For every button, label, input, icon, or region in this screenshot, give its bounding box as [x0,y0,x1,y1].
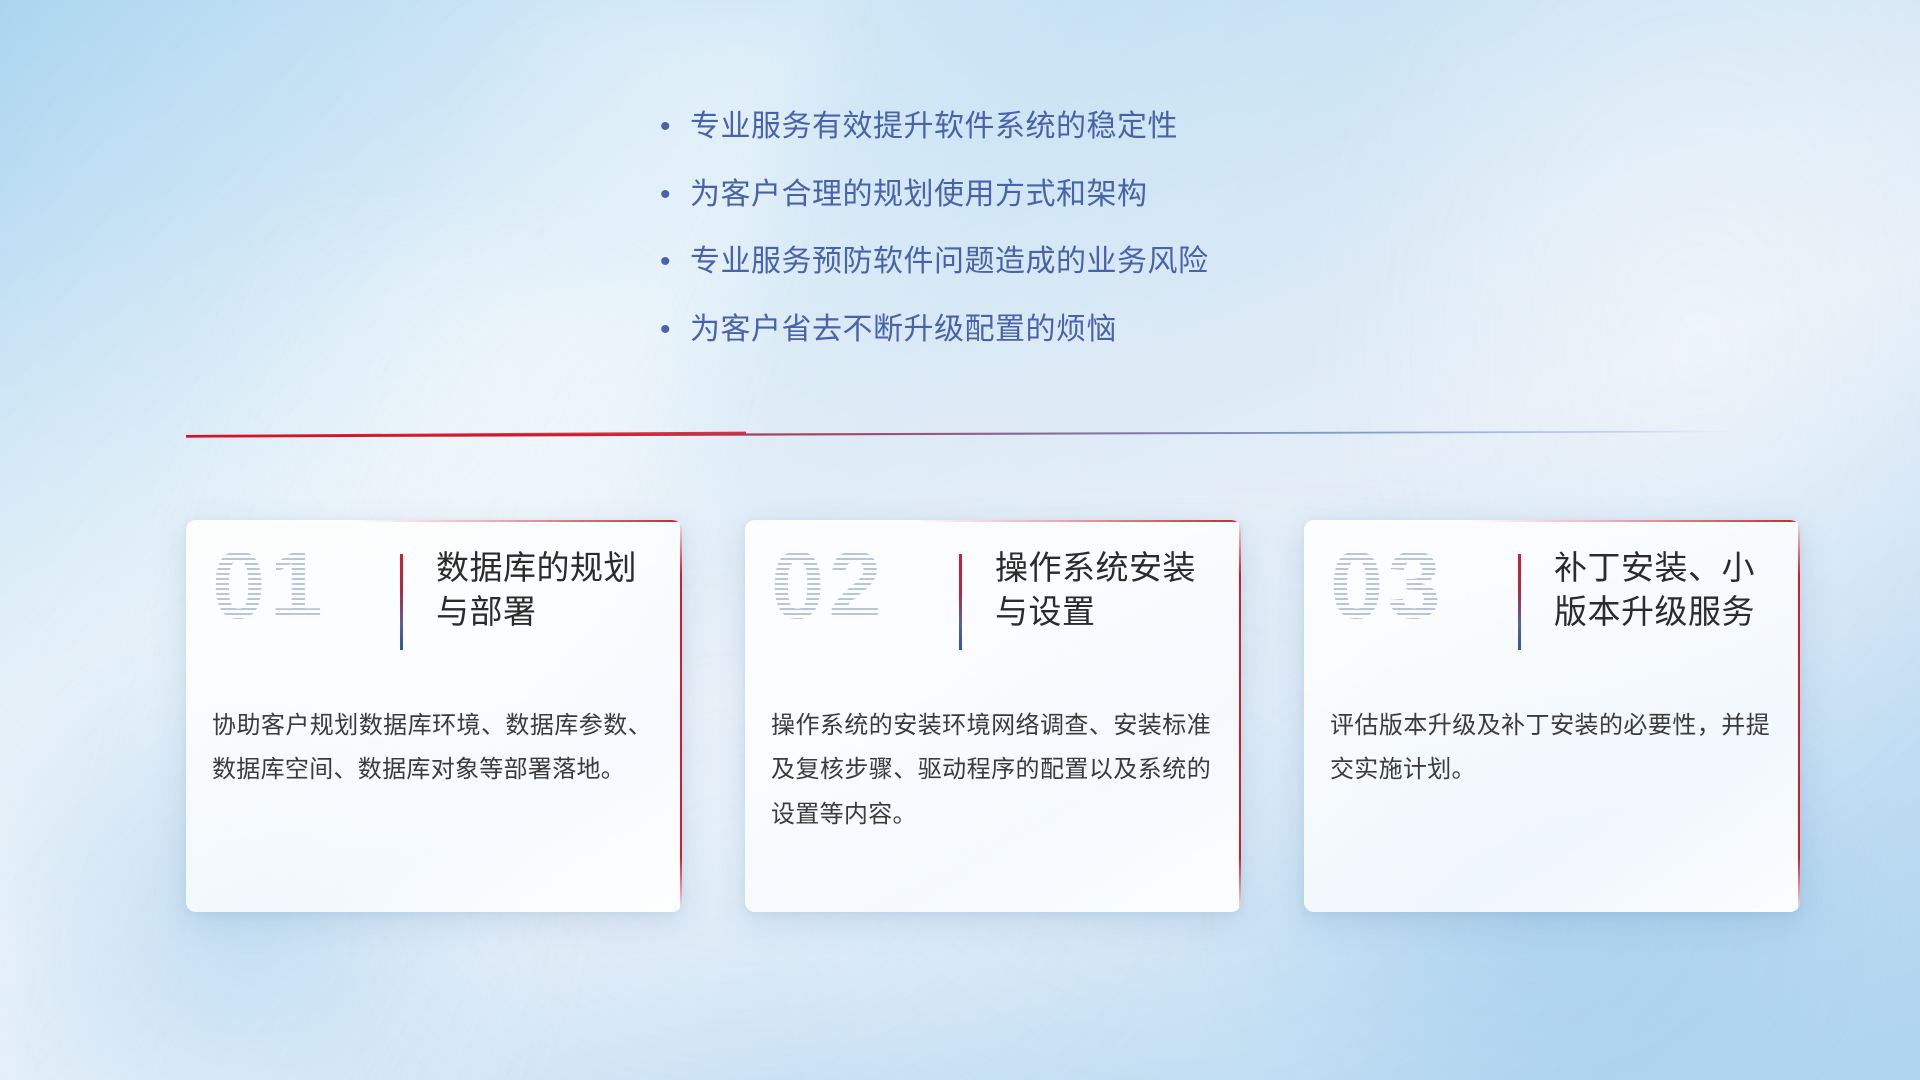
card-accent-bar [959,554,962,650]
service-card-01[interactable]: 01 数据库的规划与部署 协助客户规划数据库环境、数据库参数、数据库空间、数据库… [186,520,682,912]
card-title: 数据库的规划与部署 [436,546,660,634]
card-title: 操作系统安装与设置 [995,546,1219,634]
service-card-02[interactable]: 02 操作系统安装与设置 操作系统的安装环境网络调查、安装标准及复核步骤、驱动程… [745,520,1241,912]
bullet-dot-icon: • [660,112,690,142]
cards-row: 01 数据库的规划与部署 协助客户规划数据库环境、数据库参数、数据库空间、数据库… [186,520,1800,912]
card-accent-bar [1518,554,1521,650]
card-number-watermark: 01 [212,538,327,634]
bullet-item: • 专业服务预防软件问题造成的业务风险 [660,243,1480,281]
bullet-dot-icon: • [660,315,690,345]
bullet-item: • 专业服务有效提升软件系统的稳定性 [660,108,1480,146]
bullet-item: • 为客户合理的规划使用方式和架构 [660,176,1480,214]
bullet-item-text: 专业服务有效提升软件系统的稳定性 [690,108,1178,146]
bullet-item: • 为客户省去不断升级配置的烦恼 [660,311,1480,349]
bullet-list: • 专业服务有效提升软件系统的稳定性 • 为客户合理的规划使用方式和架构 • 专… [660,108,1480,348]
card-header: 02 操作系统安装与设置 [745,520,1241,706]
card-body-text: 评估版本升级及补丁安装的必要性，并提交实施计划。 [1330,704,1770,793]
card-header: 03 补丁安装、小版本升级服务 [1304,520,1800,706]
card-accent-bar [400,554,403,650]
divider-line-icon [186,424,1746,440]
bullet-item-text: 为客户省去不断升级配置的烦恼 [690,311,1117,349]
card-number-watermark: 03 [1330,538,1445,634]
card-header: 01 数据库的规划与部署 [186,520,682,706]
card-number-watermark: 02 [771,538,886,634]
card-body-text: 协助客户规划数据库环境、数据库参数、数据库空间、数据库对象等部署落地。 [212,704,652,793]
card-title: 补丁安装、小版本升级服务 [1554,546,1778,634]
bullet-item-text: 为客户合理的规划使用方式和架构 [690,176,1148,214]
service-card-03[interactable]: 03 补丁安装、小版本升级服务 评估版本升级及补丁安装的必要性，并提交实施计划。 [1304,520,1800,912]
bullet-item-text: 专业服务预防软件问题造成的业务风险 [690,243,1209,281]
bullet-dot-icon: • [660,247,690,277]
card-body-text: 操作系统的安装环境网络调查、安装标准及复核步骤、驱动程序的配置以及系统的设置等内… [771,704,1211,837]
bullet-dot-icon: • [660,180,690,210]
slide-canvas: • 专业服务有效提升软件系统的稳定性 • 为客户合理的规划使用方式和架构 • 专… [0,0,1920,1080]
section-divider [186,424,1746,440]
